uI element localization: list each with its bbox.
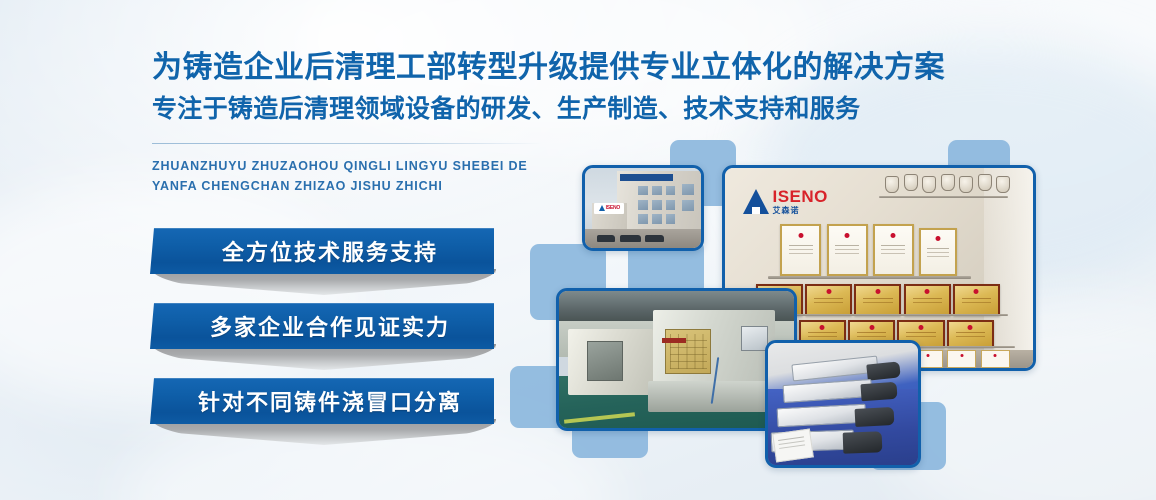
photo-award-plaque (904, 284, 951, 316)
photo-award-plaque (953, 284, 1000, 316)
photo-collage: ISENO ISENO 艾森诺 (510, 140, 1040, 470)
photo-window (652, 200, 661, 210)
feature-bar-label: 全方位技术服务支持 (206, 235, 438, 267)
photo-certificate (827, 224, 868, 276)
photo-trophy (885, 176, 899, 193)
aiseno-logo: ISENO 艾森诺 (743, 182, 872, 220)
photo-gripper-jaw (866, 361, 900, 380)
photo-window (638, 186, 647, 196)
feature-bar-plate[interactable]: 多家企业合作见证实力 (150, 303, 494, 349)
photo-factory-building[interactable]: ISENO (582, 165, 704, 251)
photo-trophy (904, 174, 918, 191)
logo-english-text: ISENO (772, 187, 827, 206)
photo-small-certificate (947, 350, 977, 368)
photo-spec-sheet (772, 429, 814, 463)
title-divider (152, 143, 542, 144)
photo-award-plaque (854, 284, 901, 316)
photo-window (682, 184, 694, 195)
photo-trophy (996, 176, 1010, 193)
photo-shelf (768, 276, 971, 279)
pinyin-block: ZHUANZHUYU ZHUZAOHOU QINGLI LINGYU SHEBE… (152, 156, 572, 197)
feature-bar-plate[interactable]: 全方位技术服务支持 (150, 228, 494, 274)
photo-award-plaque (805, 284, 852, 316)
photo-signage-band (620, 174, 673, 181)
photo-window (652, 186, 661, 196)
photo-machine-screen (741, 326, 767, 351)
photo-window (682, 200, 694, 211)
photo-cnc-machine (568, 329, 653, 395)
feature-bar-list: 全方位技术服务支持 多家企业合作见证实力 针对不同铸件浇冒口分离 (150, 228, 498, 453)
photo-small-certificate (981, 350, 1011, 368)
feature-bar-plate[interactable]: 针对不同铸件浇冒口分离 (150, 378, 494, 424)
pinyin-line-1: ZHUANZHUYU ZHUZAOHOU QINGLI LINGYU SHEBE… (152, 156, 572, 176)
photo-shelf (879, 196, 1008, 198)
photo-window (652, 214, 661, 224)
logo-chinese-text: 艾森诺 (772, 207, 827, 215)
feature-bar-3[interactable]: 针对不同铸件浇冒口分离 (150, 378, 498, 438)
photo-car (620, 235, 641, 242)
photo-window (638, 214, 647, 224)
promotional-banner: 为铸造企业后清理工部转型升级提供专业立体化的解决方案 专注于铸造后清理领域设备的… (0, 0, 1156, 500)
photo-certificate (780, 224, 821, 276)
photo-window (666, 200, 675, 210)
photo-window (638, 200, 647, 210)
photo-robot-tooling[interactable] (765, 340, 921, 468)
photo-car (597, 235, 616, 242)
feature-bar-label: 针对不同铸件浇冒口分离 (182, 385, 462, 417)
photo-window (666, 214, 675, 224)
photo-award-plaque (947, 320, 994, 348)
headline-block: 为铸造企业后清理工部转型升级提供专业立体化的解决方案 专注于铸造后清理领域设备的… (152, 48, 572, 196)
page-title: 为铸造企业后清理工部转型升级提供专业立体化的解决方案 (152, 48, 572, 88)
photo-trophy (978, 174, 992, 191)
photo-machine-panel (665, 329, 711, 373)
photo-window (666, 186, 675, 196)
photo-certificate (873, 224, 914, 276)
photo-certificate (919, 228, 957, 276)
page-subtitle: 专注于铸造后清理领域设备的研发、生产制造、技术支持和服务 (152, 92, 572, 127)
photo-trophy (959, 176, 973, 193)
photo-car (645, 235, 664, 242)
photo-trophy (941, 174, 955, 191)
photo-gripper-jaw (843, 431, 883, 453)
feature-bar-label: 多家企业合作见证实力 (194, 310, 450, 342)
photo-trophy (922, 176, 936, 193)
feature-bar-1[interactable]: 全方位技术服务支持 (150, 228, 498, 288)
logo-mark-icon (599, 205, 605, 211)
photo-cnc-workshop[interactable] (556, 288, 797, 431)
feature-bar-2[interactable]: 多家企业合作见证实力 (150, 303, 498, 363)
photo-machine-label (662, 338, 686, 343)
photo-gripper-jaw (860, 382, 897, 402)
photo-wall-logo: ISENO (594, 203, 624, 213)
photo-gripper-jaw (855, 407, 895, 427)
pinyin-line-2: YANFA CHENGCHAN ZHIZAO JISHU ZHICHI (152, 176, 572, 196)
logo-a-mark-icon (743, 188, 769, 214)
